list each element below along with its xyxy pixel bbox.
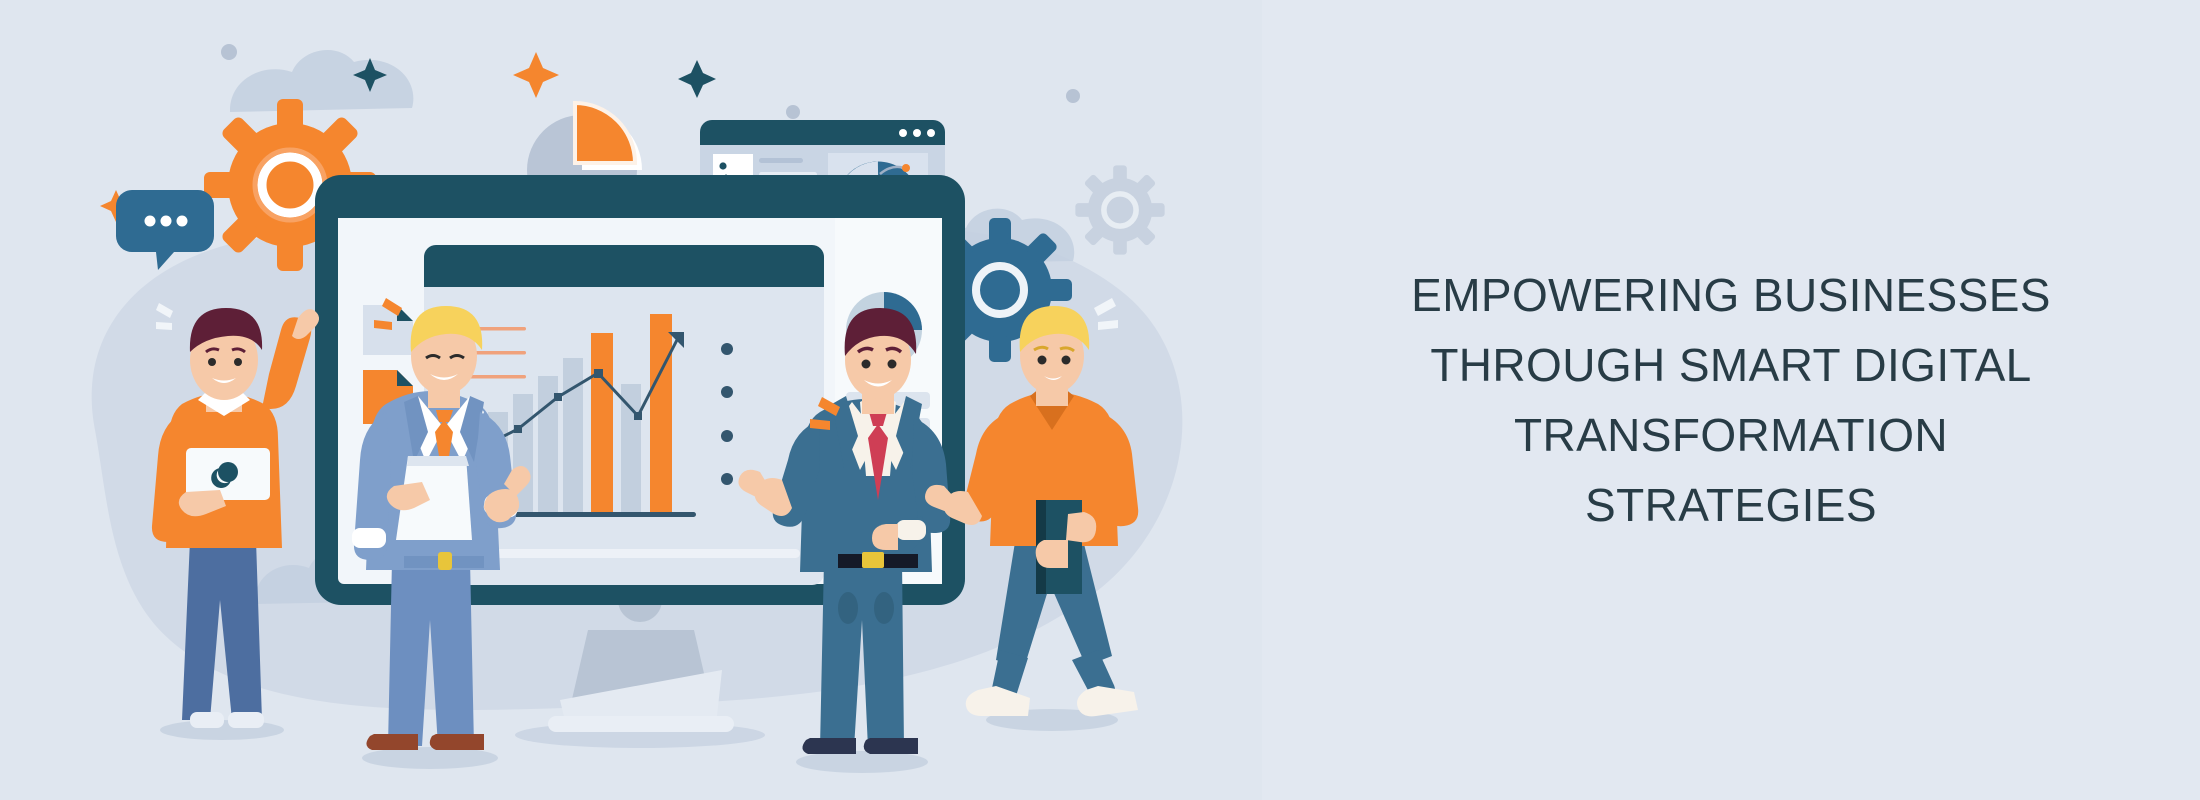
gear-icon-small [1075, 165, 1164, 254]
bar-highlight [591, 333, 613, 512]
illustration-stage [0, 0, 1262, 800]
headline-line-3: TRANSFORMATION [1514, 400, 1948, 470]
window-dot[interactable] [899, 129, 907, 137]
illustration-svg [0, 0, 1262, 800]
headline-line-1: EMPOWERING BUSINESSES [1411, 260, 2051, 330]
bar [621, 384, 641, 512]
bar-highlight [650, 314, 672, 512]
headline-line-2: THROUGH SMART DIGITAL [1430, 330, 2031, 400]
headline-line-4: STRATEGIES [1585, 470, 1877, 540]
line-marker [554, 393, 562, 401]
line-marker [594, 369, 603, 378]
line-marker [514, 425, 522, 433]
window-dot[interactable] [913, 129, 921, 137]
bar [563, 358, 583, 512]
line-marker [634, 412, 642, 420]
window-dot[interactable] [927, 129, 935, 137]
banner-root: EMPOWERING BUSINESSES THROUGH SMART DIGI… [0, 0, 2200, 800]
headline-block: EMPOWERING BUSINESSES THROUGH SMART DIGI… [1262, 0, 2200, 800]
placeholder-line [448, 549, 800, 558]
chart-window-titlebar [424, 245, 824, 287]
